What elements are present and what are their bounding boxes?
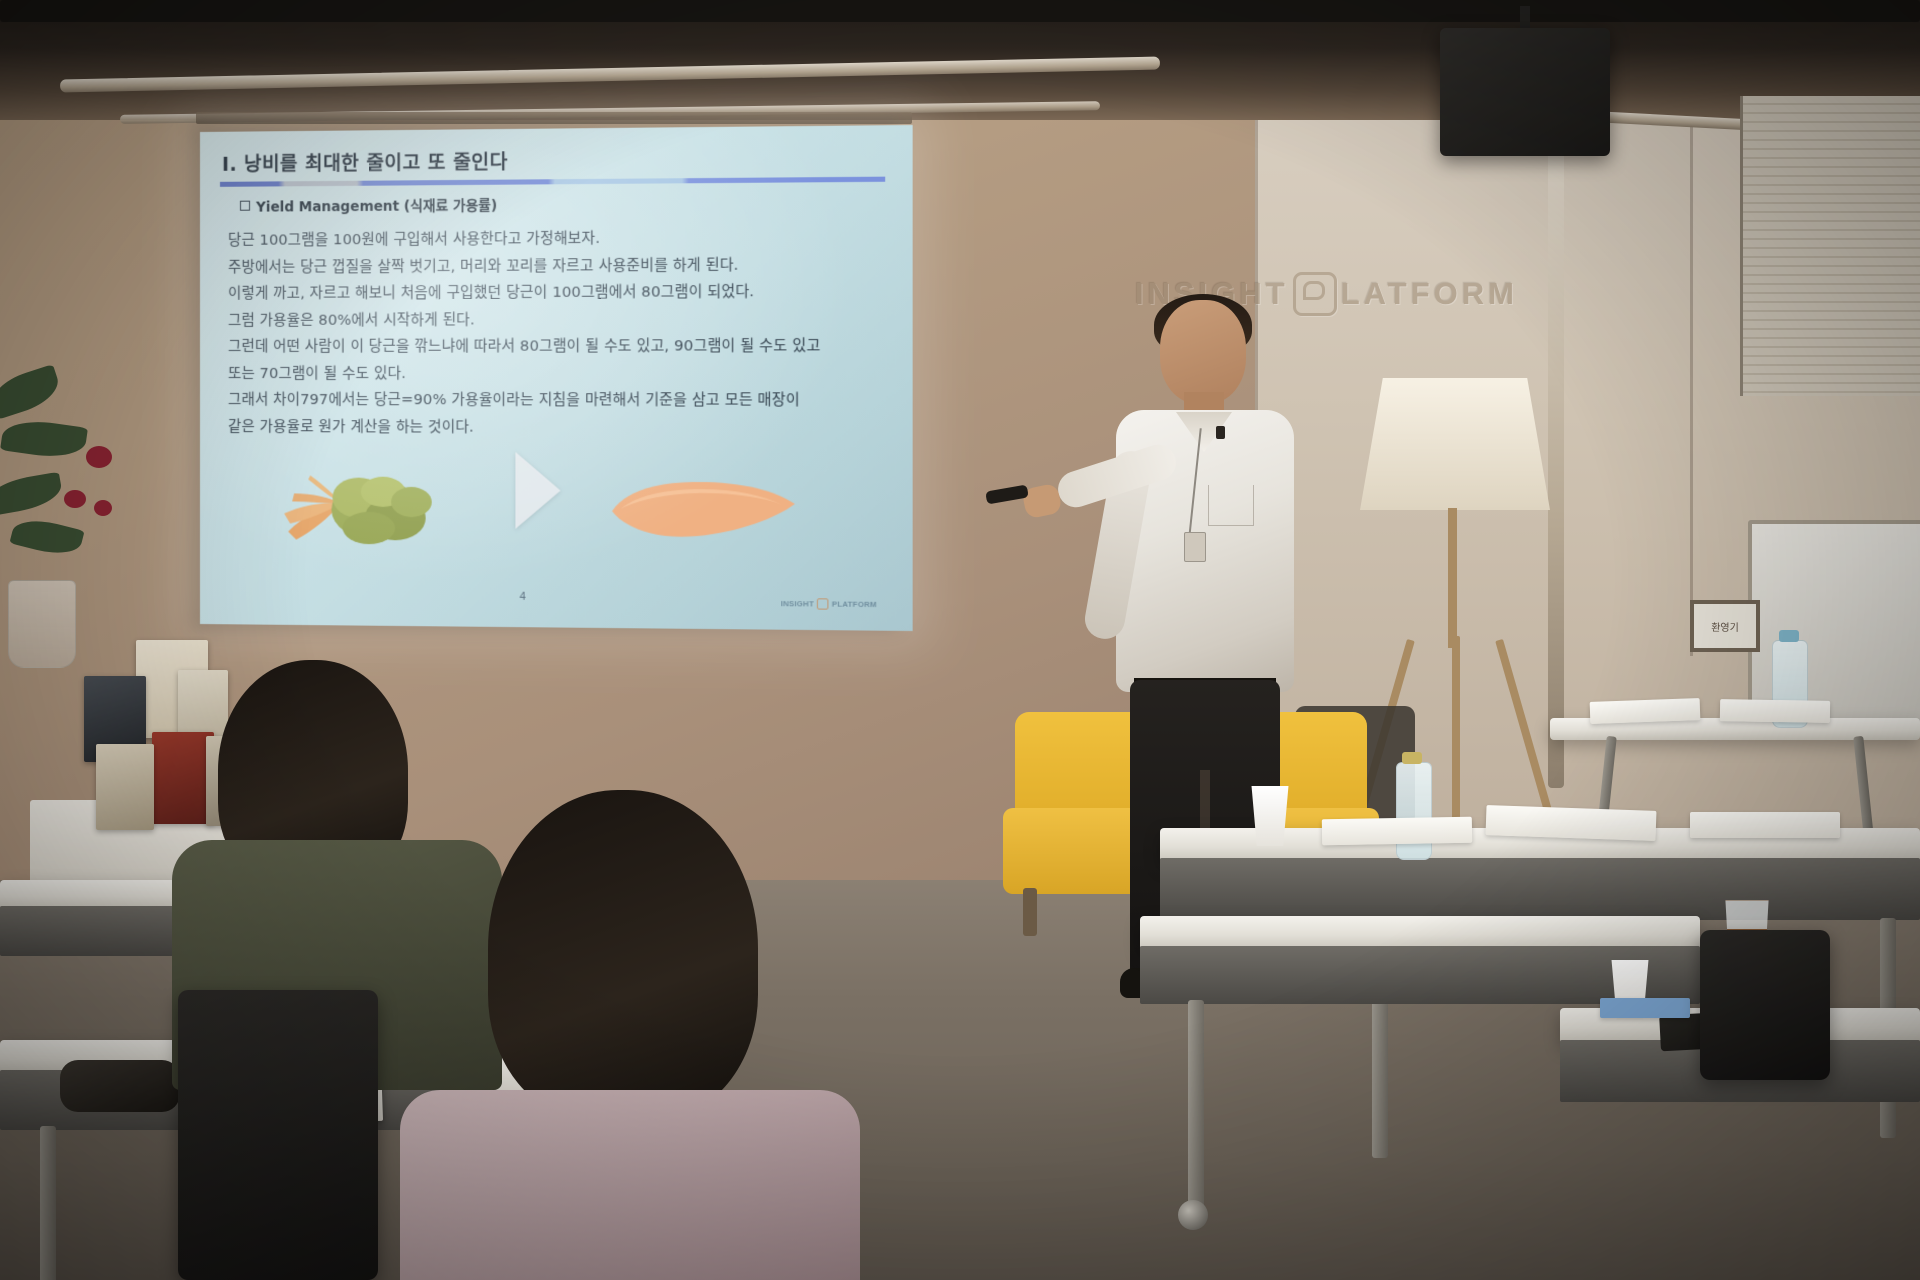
lapel-microphone-icon xyxy=(1216,426,1225,439)
plant-leaf xyxy=(0,416,88,461)
peeled-carrot-icon xyxy=(606,473,803,547)
handout xyxy=(1690,812,1840,838)
slide-footer-logo: INSIGHT PLATFORM xyxy=(781,598,877,610)
bullet-heading-text: Yield Management (식재료 가용률) xyxy=(256,198,497,216)
slide-body-line: 당근 100그램을 100원에 구입해서 사용한다고 가정해보자. xyxy=(228,228,892,251)
blue-card xyxy=(1600,998,1690,1018)
presenter-id-badge xyxy=(1184,532,1206,562)
flower-bloom xyxy=(94,500,112,516)
slide-body-line: 주방에서는 당근 껍질을 살짝 벗기고, 머리와 꼬리를 자르고 사용준비를 하… xyxy=(228,255,892,278)
floor-lamp-shade xyxy=(1360,378,1550,510)
slide-body-line: 이렇게 까고, 자르고 해보니 처음에 구입했던 당근이 100그램에서 80그… xyxy=(228,283,892,305)
paper-sheet xyxy=(1720,699,1830,723)
desk-caster xyxy=(1178,1200,1208,1230)
bottle-cap xyxy=(1779,630,1799,642)
flower-bloom xyxy=(86,446,112,468)
floor-lamp-stem xyxy=(1448,508,1457,648)
eyeglass-case xyxy=(60,1060,180,1112)
slide-title: Ⅰ. 낭비를 최대한 줄이고 또 줄인다 xyxy=(222,144,894,177)
attendee-hair xyxy=(488,790,758,1120)
book-cover xyxy=(96,744,154,830)
projection-screen: Ⅰ. 낭비를 최대한 줄이고 또 줄인다 Yield Management (식… xyxy=(200,125,913,631)
plant-leaf xyxy=(9,514,84,560)
ceiling-speaker-icon xyxy=(1440,28,1610,156)
framed-sign: 환영기 xyxy=(1690,600,1760,652)
photo-scene: Ⅰ. 낭비를 최대한 줄이고 또 줄인다 Yield Management (식… xyxy=(0,0,1920,1280)
slide-illustration xyxy=(260,419,845,574)
process-arrow-icon xyxy=(515,452,560,529)
slide-page-number: 4 xyxy=(520,591,526,603)
attendee-top xyxy=(400,1090,860,1280)
slide-body: 당근 100그램을 100원에 구입해서 사용한다고 가정해보자. 주방에서는 … xyxy=(228,228,892,446)
slide-logo-text-platform: PLATFORM xyxy=(832,599,877,609)
checkbox-bullet-icon xyxy=(240,201,250,211)
bottle-cap xyxy=(1402,752,1422,764)
handout xyxy=(1322,817,1472,846)
slide-logo-mark-icon xyxy=(817,598,829,609)
flower-bloom xyxy=(64,490,86,508)
desk-right-edge xyxy=(1160,858,1920,920)
whole-carrot-icon xyxy=(280,453,457,565)
ceiling-beam xyxy=(0,0,1920,22)
slide-body-line: 또는 70그램이 될 수도 있다. xyxy=(228,364,892,384)
chair-right xyxy=(1700,930,1830,1080)
sofa-leg xyxy=(1023,888,1037,936)
green-tea-bottle xyxy=(1396,762,1432,860)
plant-leaf xyxy=(0,364,64,420)
presenter-shirt-pocket xyxy=(1208,485,1254,526)
slide-body-line: 그럼 가용율은 80%에서 시작하게 된다. xyxy=(228,310,892,331)
window-blinds xyxy=(1740,96,1920,396)
plant-leaf xyxy=(0,472,64,517)
attendee-center xyxy=(400,790,860,1280)
desk-center-right xyxy=(1140,916,1700,950)
paper-sheet xyxy=(1590,698,1701,724)
handout xyxy=(1486,805,1657,841)
slide-body-line: 그래서 차이797에서는 당근=90% 가용율이라는 지침을 마련해서 기준을 … xyxy=(228,391,892,411)
signage-text-platform: LATFORM xyxy=(1341,276,1518,312)
slide-bullet-heading: Yield Management (식재료 가용률) xyxy=(240,194,497,216)
slide-title-rule xyxy=(220,177,885,187)
flower-arrangement xyxy=(0,350,170,680)
slide-body-line: 그런데 어떤 사람이 이 당근을 깎느냐에 따라서 80그램이 될 수도 있고,… xyxy=(228,337,892,358)
wall-seam xyxy=(1690,96,1693,656)
chair-left xyxy=(178,990,378,1280)
presenter-head xyxy=(1160,300,1246,404)
desk-leg xyxy=(40,1126,56,1280)
wall-conduit xyxy=(1548,128,1564,788)
desk-leg xyxy=(1188,1000,1204,1210)
slide-logo-text-insight: INSIGHT xyxy=(781,599,814,609)
